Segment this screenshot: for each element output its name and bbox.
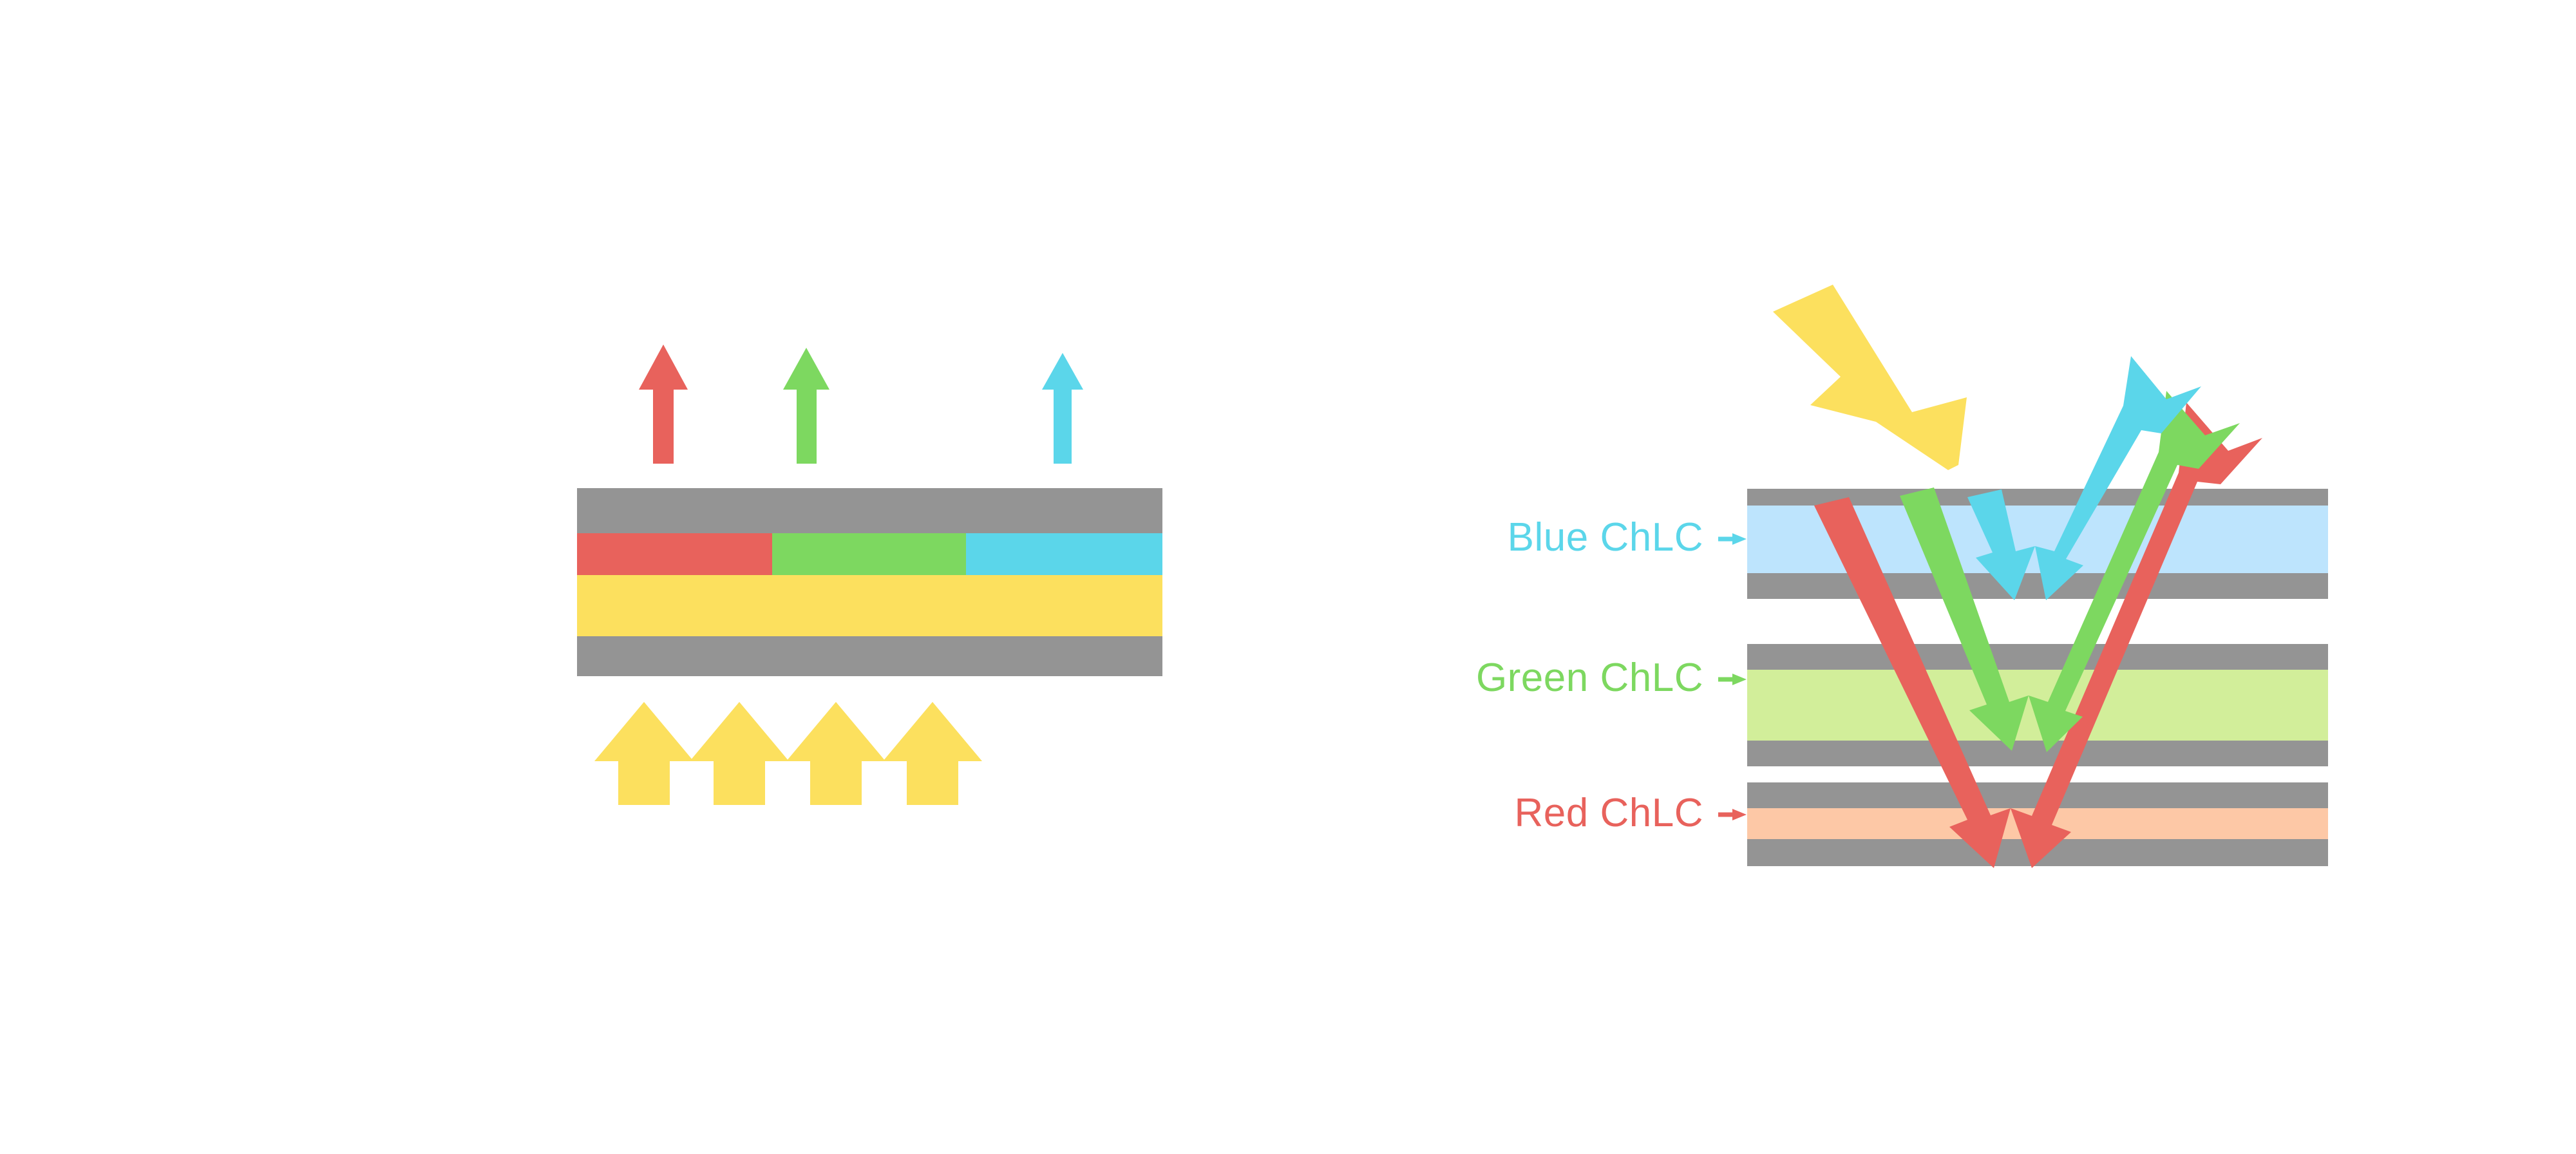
left-layer-bottom-electrode [577, 636, 1162, 676]
label-blue-chlc-text: Blue ChLC [1508, 515, 1703, 560]
green-cell-top-electrode [1747, 644, 2328, 670]
label-red-chlc-text: Red ChLC [1515, 791, 1703, 835]
label-green-chlc-text: Green ChLC [1476, 656, 1703, 700]
left-layer-color-filter-cyan [966, 533, 1162, 575]
blue-cell-bottom-electrode [1747, 573, 2328, 599]
left-layer-color-filter-red [577, 533, 772, 575]
left-layer-backlight [577, 575, 1162, 636]
green-cell-bottom-electrode [1747, 741, 2328, 766]
left-layer-color-filter-green [772, 533, 966, 575]
figure-canvas: Blue ChLC Green ChLC Red ChLC [0, 0, 2576, 1154]
diagram-svg: Blue ChLC Green ChLC Red ChLC [0, 0, 2576, 1154]
left-layer-top-electrode [577, 488, 1162, 533]
